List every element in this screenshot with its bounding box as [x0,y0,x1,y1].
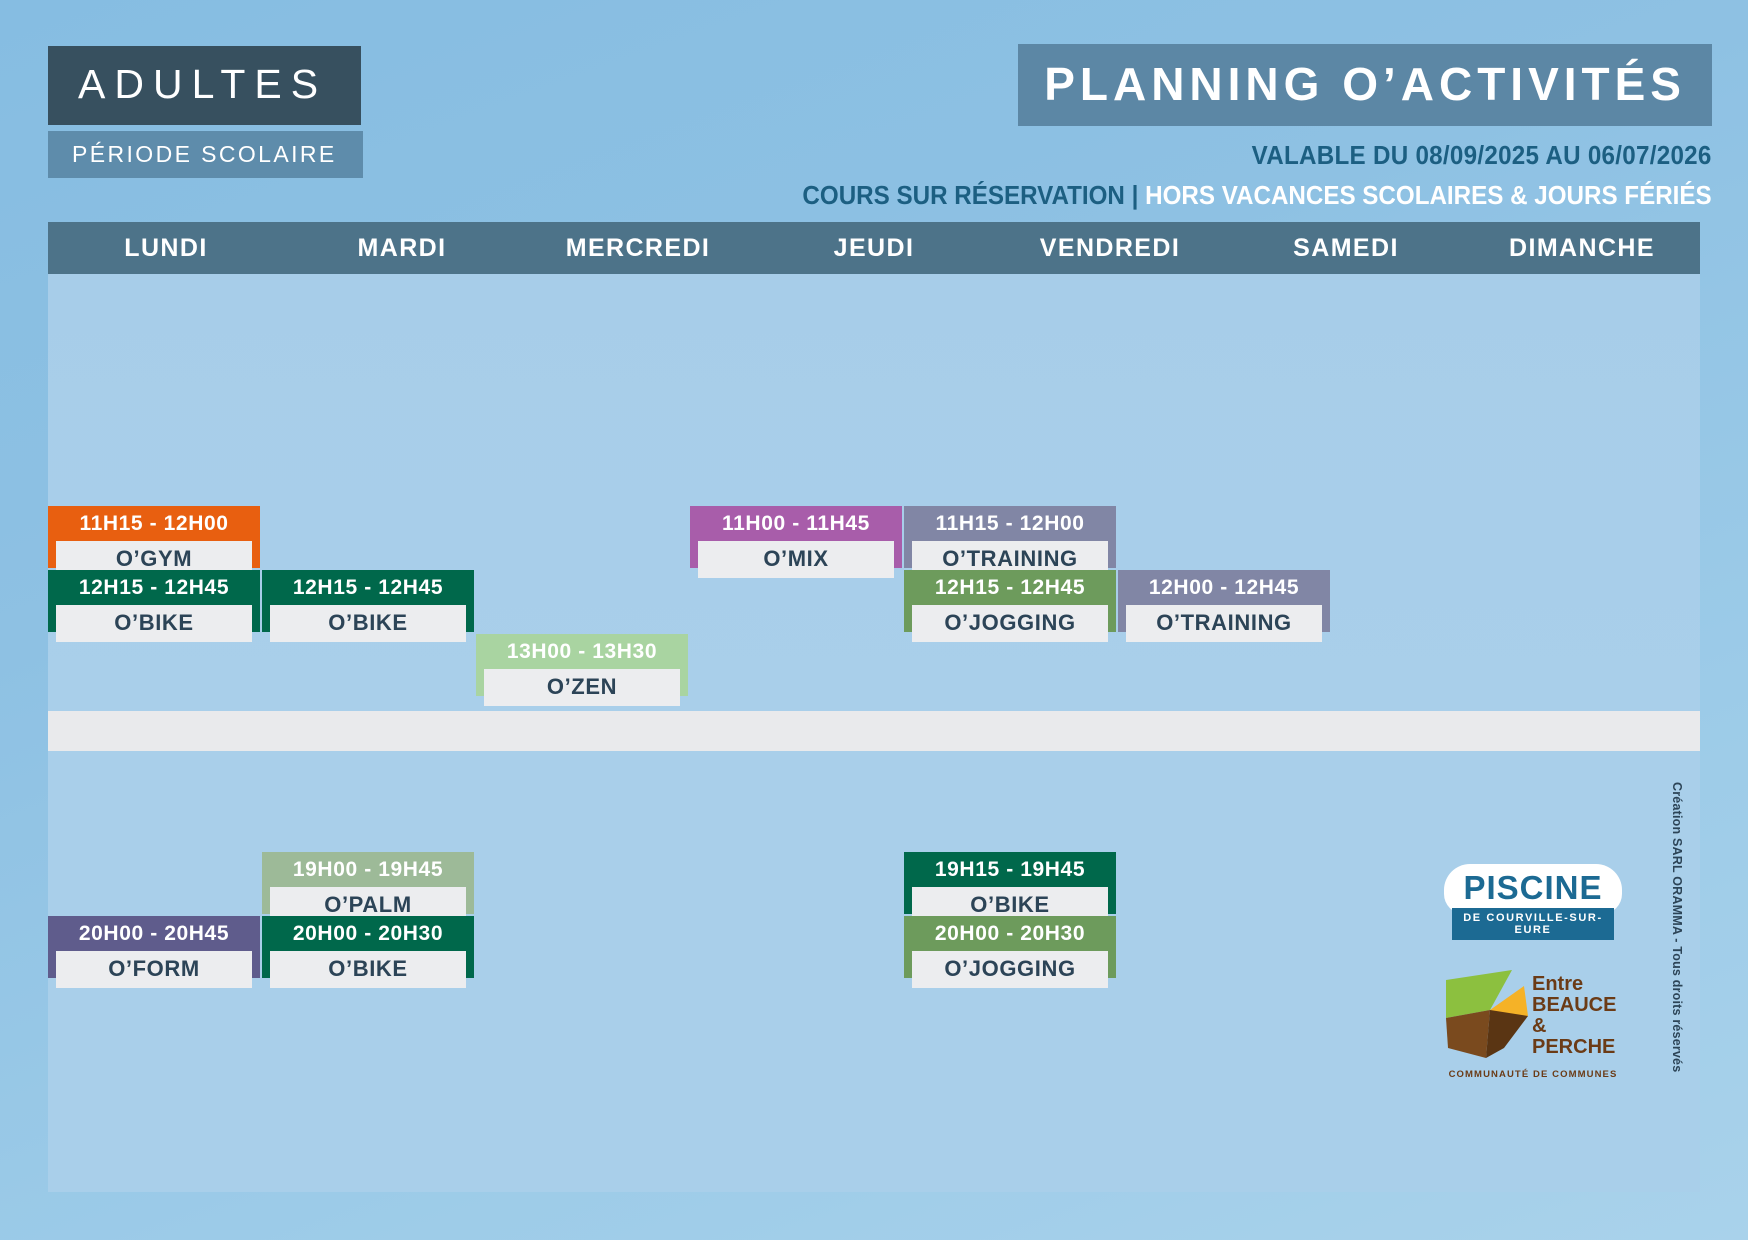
day-header-samedi: SAMEDI [1228,222,1464,274]
category-badge-group: ADULTES PÉRIODE SCOLAIRE [48,46,363,178]
day-header-dimanche: DIMANCHE [1464,222,1700,274]
session-name: O’JOGGING [912,605,1108,642]
session-time: 12H00 - 12H45 [1126,577,1322,598]
session-block[interactable]: 11H15 - 12H00O’GYM [48,506,260,568]
title-group: PLANNING O’ACTIVITÉS VALABLE DU 08/09/20… [734,44,1712,211]
ebp-line2: BEAUCE [1532,994,1616,1016]
category-badge-adults: ADULTES [48,46,361,125]
logo-group: PISCINE DE COURVILLE-SUR-EURE Entre BEAU… [1438,864,1628,1082]
day-header-mercredi: MERCREDI [520,222,756,274]
session-time: 12H15 - 12H45 [56,577,252,598]
session-time: 12H15 - 12H45 [912,577,1108,598]
session-block[interactable]: 12H00 - 12H45O’TRAINING [1118,570,1330,632]
session-block[interactable]: 12H15 - 12H45O’BIKE [262,570,474,632]
piscine-logo: PISCINE DE COURVILLE-SUR-EURE [1438,864,1628,940]
session-time: 11H15 - 12H00 [912,513,1108,534]
holidays-text: HORS VACANCES SCOLAIRES & JOURS FÉRIÉS [1145,180,1712,210]
day-header-jeudi: JEUDI [756,222,992,274]
session-time: 20H00 - 20H30 [912,923,1108,944]
session-time: 11H15 - 12H00 [56,513,252,534]
session-name: O’MIX [698,541,894,578]
session-block[interactable]: 13H00 - 13H30O’ZEN [476,634,688,696]
session-time: 19H15 - 19H45 [912,859,1108,880]
session-block[interactable]: 20H00 - 20H30O’JOGGING [904,916,1116,978]
session-name: O’ZEN [484,669,680,706]
piscine-logo-name: PISCINE [1438,868,1628,908]
session-time: 12H15 - 12H45 [270,577,466,598]
session-block[interactable]: 19H15 - 19H45O’BIKE [904,852,1116,914]
poster-background: ADULTES PÉRIODE SCOLAIRE PLANNING O’ACTI… [0,0,1748,1240]
day-header-mardi: MARDI [284,222,520,274]
session-time: 20H00 - 20H45 [56,923,252,944]
credit-line: Création SARL ORAMMA - Tous droits réser… [1670,782,1684,1072]
session-name: O’BIKE [270,951,466,988]
validity-period: VALABLE DU 08/09/2025 AU 06/07/2026 [803,140,1712,171]
day-header-row: LUNDI MARDI MERCREDI JEUDI VENDREDI SAME… [48,222,1700,274]
ebp-line3: & PERCHE [1532,1015,1615,1058]
session-time: 13H00 - 13H30 [484,641,680,662]
session-name: O’BIKE [270,605,466,642]
midday-separator-band [48,711,1700,751]
session-block[interactable]: 19H00 - 19H45O’PALM [262,852,474,914]
session-name: O’FORM [56,951,252,988]
session-block[interactable]: 11H15 - 12H00O’TRAINING [904,506,1116,568]
session-name: O’BIKE [56,605,252,642]
reservation-text: COURS SUR RÉSERVATION [803,180,1125,210]
page-title: PLANNING O’ACTIVITÉS [1018,44,1712,126]
session-name: O’JOGGING [912,951,1108,988]
day-header-lundi: LUNDI [48,222,284,274]
session-name: O’TRAINING [1126,605,1322,642]
session-time: 19H00 - 19H45 [270,859,466,880]
session-block[interactable]: 12H15 - 12H45O’BIKE [48,570,260,632]
reservation-note: COURS SUR RÉSERVATION | HORS VACANCES SC… [803,180,1712,211]
schedule-grid: LUNDI MARDI MERCREDI JEUDI VENDREDI SAME… [48,222,1700,1192]
category-badge-period: PÉRIODE SCOLAIRE [48,131,363,178]
session-time: 11H00 - 11H45 [698,513,894,534]
entre-beauce-perche-logo: Entre BEAUCE & PERCHE COMMUNAUTÉ DE COMM… [1438,962,1628,1082]
note-separator: | [1132,180,1139,210]
day-header-vendredi: VENDREDI [992,222,1228,274]
session-block[interactable]: 20H00 - 20H45O’FORM [48,916,260,978]
ebp-line1: Entre [1532,973,1583,995]
session-block[interactable]: 12H15 - 12H45O’JOGGING [904,570,1116,632]
ebp-logo-text: Entre BEAUCE & PERCHE [1532,974,1628,1058]
schedule-board: 11H15 - 12H00O’GYM12H15 - 12H45O’BIKE12H… [48,274,1700,1192]
session-block[interactable]: 11H00 - 11H45O’MIX [690,506,902,568]
piscine-logo-location: DE COURVILLE-SUR-EURE [1452,908,1614,940]
session-time: 20H00 - 20H30 [270,923,466,944]
ebp-logo-subtitle: COMMUNAUTÉ DE COMMUNES [1438,1069,1628,1080]
session-block[interactable]: 20H00 - 20H30O’BIKE [262,916,474,978]
